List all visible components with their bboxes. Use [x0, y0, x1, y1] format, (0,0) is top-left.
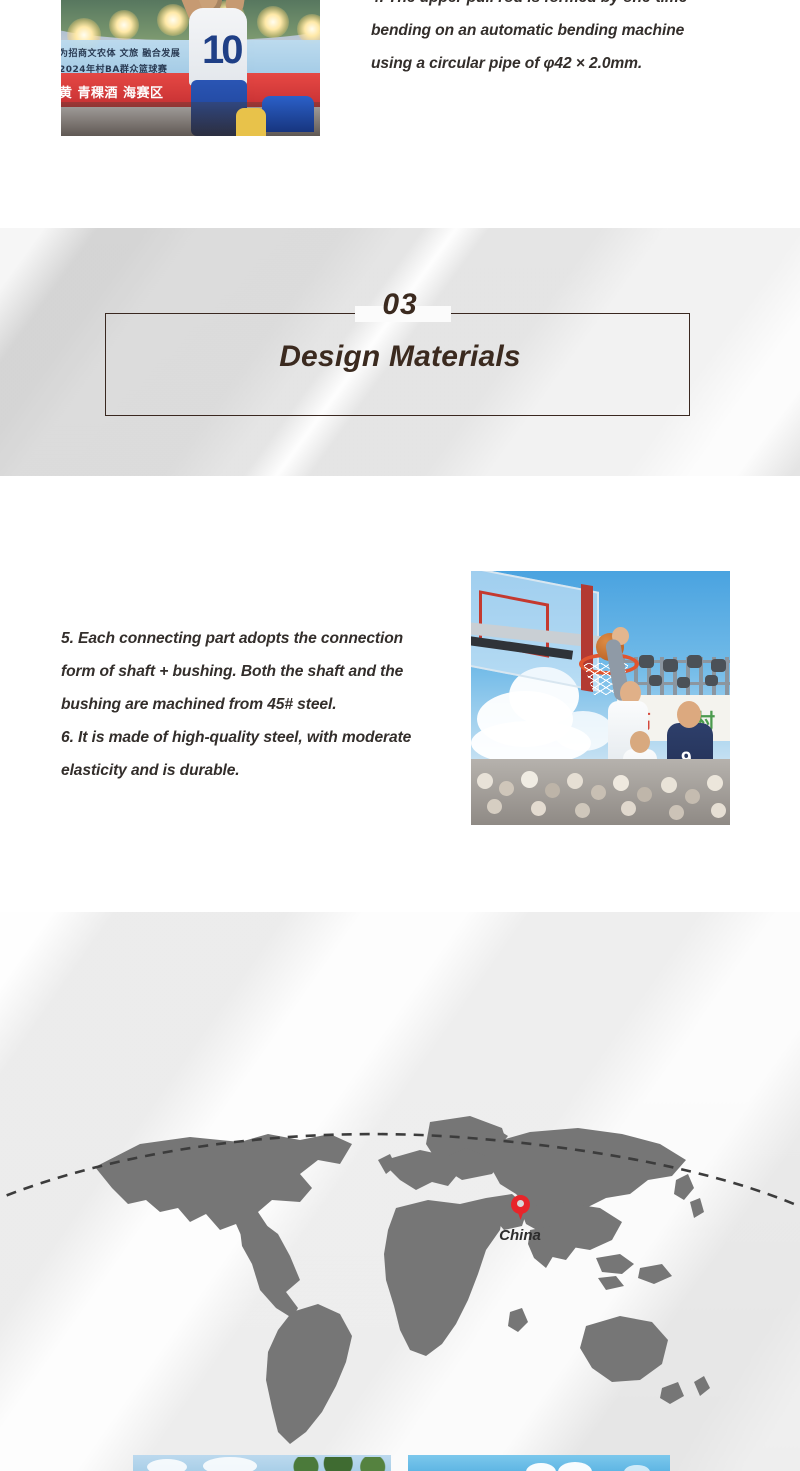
map-landmasses [95, 1116, 710, 1444]
crowd-person [669, 805, 684, 820]
pin-hole [517, 1200, 524, 1207]
product-detail-page: 为招商文农体 文旅 融合发展 2024年村BA群众篮球赛 黄 青稞酒 海赛区 1… [0, 0, 800, 1471]
cloud [553, 711, 613, 751]
crowd-person [621, 801, 636, 816]
world-map-section [0, 912, 800, 1471]
cloud [526, 1463, 556, 1471]
materials-paragraph-line: 6. It is made of high-quality steel, wit… [61, 721, 461, 754]
section-title: Design Materials [0, 340, 800, 374]
photo-banner-text-3: 黄 青稞酒 海赛区 [61, 82, 164, 101]
crowd-person [521, 771, 538, 788]
crowd-person [591, 785, 606, 800]
world-map [0, 912, 800, 1471]
materials-paragraph-line: elasticity and is durable. [61, 754, 461, 787]
section-number: 03 [0, 288, 800, 322]
basketball-layup-photo: 高 村 9 [471, 571, 730, 825]
stage-light [687, 655, 702, 668]
player-nine-head [677, 701, 701, 728]
photo-banner-text-1: 为招商文农体 文旅 融合发展 [61, 46, 180, 59]
crowd-person [575, 803, 590, 818]
crowd-person [707, 775, 723, 791]
cloud [203, 1457, 257, 1471]
crowd-person [711, 803, 726, 818]
crowd-person [661, 777, 677, 793]
map-pin-icon[interactable] [511, 1195, 530, 1221]
crowd-person [613, 775, 629, 791]
stage-light [649, 675, 662, 686]
map-marker-label-text: China [499, 1227, 541, 1244]
tree-foliage [283, 1457, 391, 1471]
spectator-blue [262, 96, 314, 132]
stage-light [677, 677, 690, 688]
spectator-yellow [236, 108, 266, 136]
top-paragraph-line: bending on an automatic bending machine [371, 14, 731, 47]
basketball-dunk-photo: 为招商文农体 文旅 融合发展 2024年村BA群众篮球赛 黄 青稞酒 海赛区 1… [61, 0, 320, 136]
stage-light [705, 675, 718, 686]
bystander-head [630, 731, 650, 753]
crowd-person [531, 801, 546, 816]
stage-light [663, 659, 678, 672]
stage-light [639, 655, 654, 668]
crowd-person [567, 773, 583, 789]
cloud [558, 1462, 592, 1471]
top-section: 为招商文农体 文旅 融合发展 2024年村BA群众篮球赛 黄 青稞酒 海赛区 1… [0, 0, 800, 228]
materials-paragraph-line: bushing are machined from 45# steel. [61, 688, 461, 721]
top-text-block: on. 4. The upper pull rod is formed by o… [371, 0, 731, 80]
bottom-photo-left [133, 1455, 391, 1471]
stage-light [711, 659, 726, 672]
crowd-person [499, 781, 514, 796]
crowd-person [477, 773, 493, 789]
materials-paragraph-line: 5. Each connecting part adopts the conne… [61, 622, 461, 655]
cloud [147, 1459, 187, 1471]
map-marker-label: China [0, 1227, 800, 1244]
stage-light [257, 6, 289, 38]
top-paragraph-line: 4. The upper pull rod is formed by one-t… [371, 0, 731, 14]
top-paragraph-line: using a circular pipe of φ42 × 2.0mm. [371, 47, 731, 80]
bottom-photo-right [408, 1455, 670, 1471]
photo-crowd [471, 759, 730, 825]
cloud [624, 1465, 650, 1471]
materials-text-block: 5. Each connecting part adopts the conne… [61, 622, 461, 787]
crowd-person [487, 799, 502, 814]
materials-paragraph-line: form of shaft + bushing. Both the shaft … [61, 655, 461, 688]
crowd-person [685, 789, 700, 804]
crowd-person [637, 787, 652, 802]
stage-light [109, 10, 139, 40]
crowd-person [545, 783, 560, 798]
player-jersey-number: 10 [202, 28, 241, 73]
